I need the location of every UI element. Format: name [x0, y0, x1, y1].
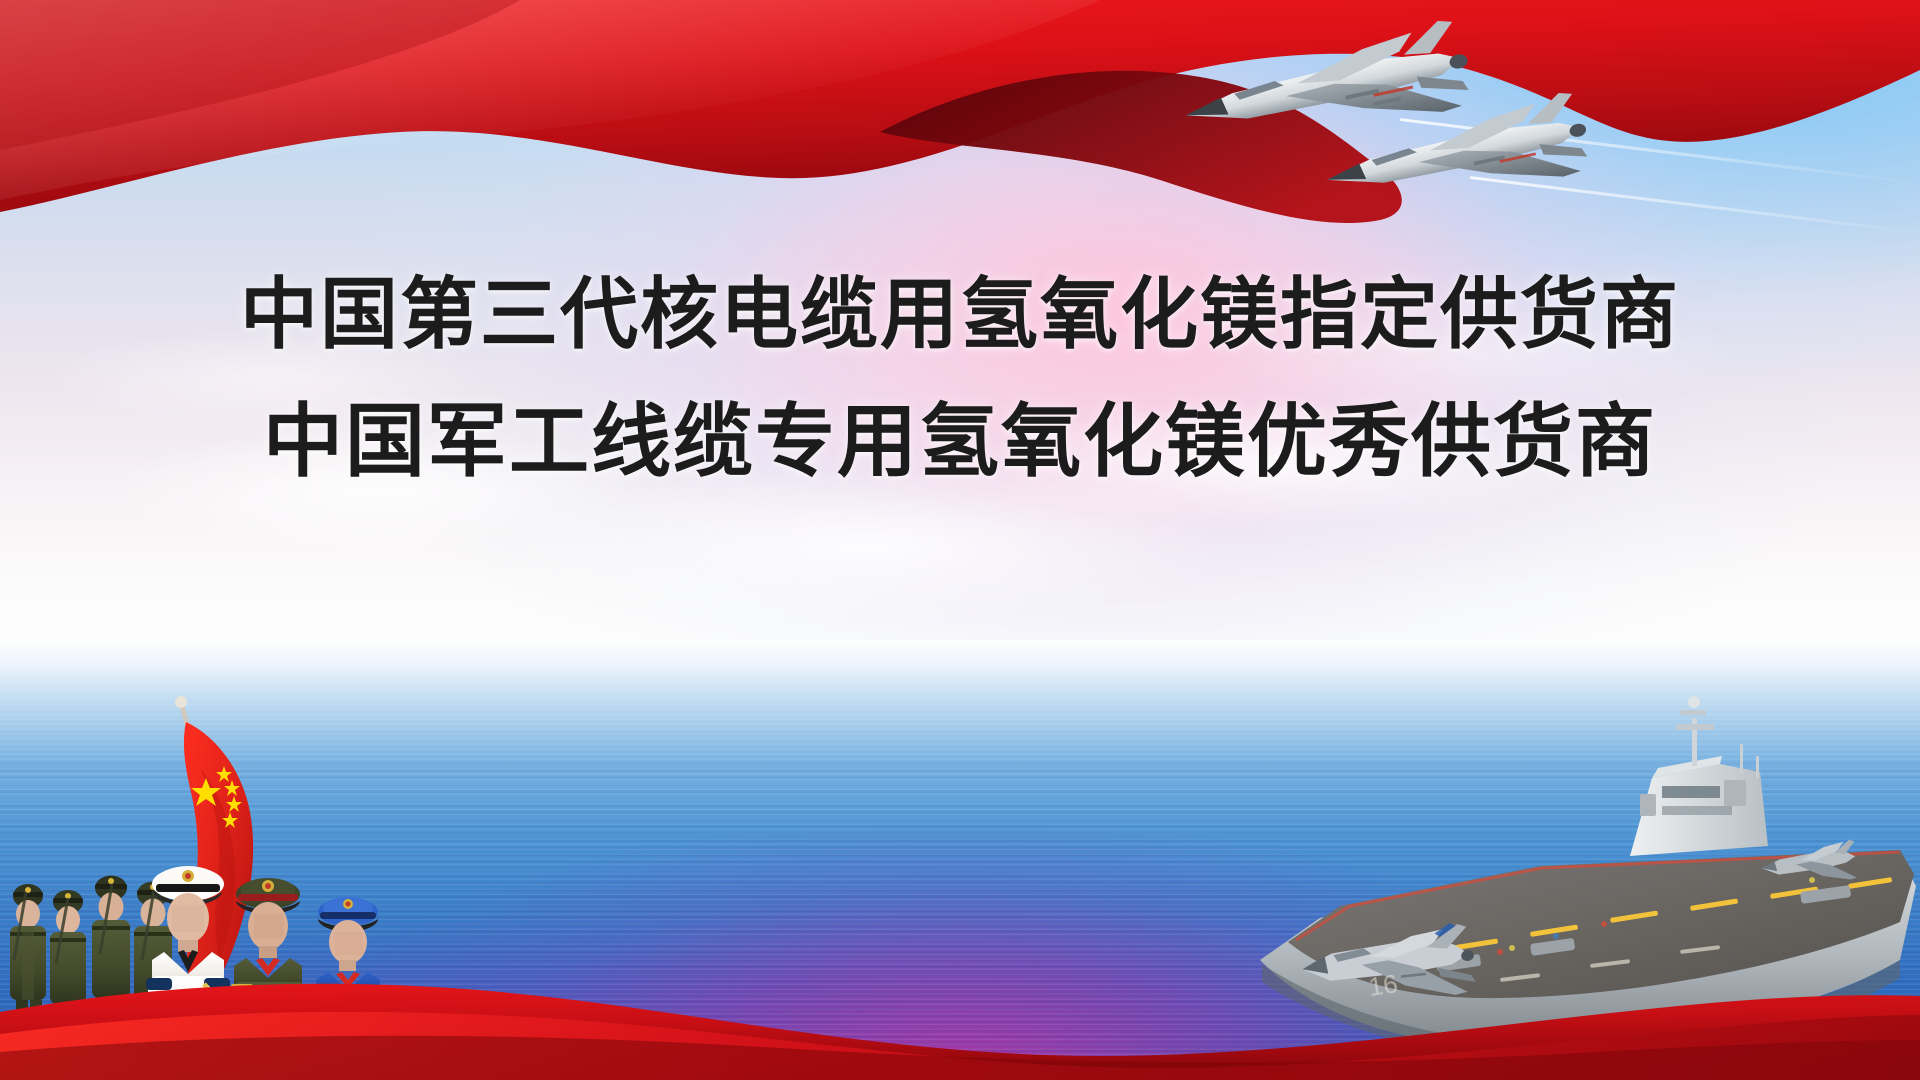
title-line-2: 中国军工线缆专用氢氧化镁优秀供货商	[0, 378, 1920, 506]
carrier-hull-number: 16	[1367, 968, 1400, 1002]
radar-array	[1676, 724, 1714, 730]
phased-array-panel	[1724, 780, 1746, 806]
banner-title-block: 中国第三代核电缆用氢氧化镁指定供货商 中国军工线缆专用氢氧化镁优秀供货商	[0, 250, 1920, 506]
military-promo-banner: 中国第三代核电缆用氢氧化镁指定供货商 中国军工线缆专用氢氧化镁优秀供货商	[0, 0, 1920, 1080]
honor-guard-formation	[0, 660, 470, 1080]
phased-array-panel	[1640, 794, 1656, 816]
aircraft-carrier: 16	[1200, 660, 1920, 1080]
bridge-windows	[1662, 786, 1720, 798]
carrier-island	[1630, 696, 1768, 856]
guard-airforce-escort	[312, 897, 388, 1080]
guard-navy-flagbearer	[146, 866, 230, 1080]
title-line-1: 中国第三代核电缆用氢氧化镁指定供货商	[0, 250, 1920, 378]
guard-army-rear-rank	[10, 876, 172, 1069]
radar-dome	[1688, 696, 1700, 708]
